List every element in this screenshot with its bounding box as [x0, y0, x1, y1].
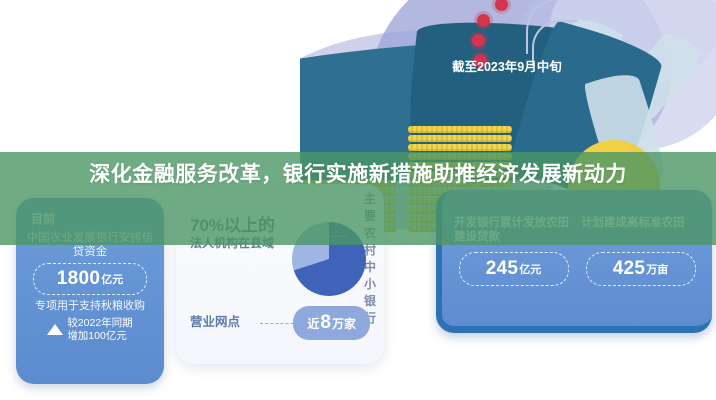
left-card-delta-text: 较2022年同期 增加100亿元 — [67, 317, 132, 342]
left-card-note: 专项用于支持秋粮收购 — [25, 300, 155, 313]
credit-amount-pill: 1800 亿元 — [33, 263, 147, 295]
column-value-pill: 425 万亩 — [586, 252, 696, 286]
left-card-delta: 较2022年同期 增加100亿元 — [25, 317, 155, 342]
outlets-value-pill: 近 8 万家 — [293, 306, 370, 340]
page-title: 深化金融服务改革，银行实施新措施助推经济发展新动力 — [0, 160, 716, 189]
berry-icon — [472, 34, 485, 47]
mid-card-outlets-label: 营业网点 — [190, 311, 240, 330]
screenshot-canvas: 主要农村中小银行 70%以上的 法人机构在县域 营业网点 近 8 万家 开发银 — [0, 0, 716, 400]
column-value-pill: 245 亿元 — [459, 252, 569, 286]
berry-icon — [477, 14, 490, 27]
report-date-label: 截至2023年9月中旬 — [452, 56, 562, 75]
triangle-up-icon — [47, 324, 63, 335]
